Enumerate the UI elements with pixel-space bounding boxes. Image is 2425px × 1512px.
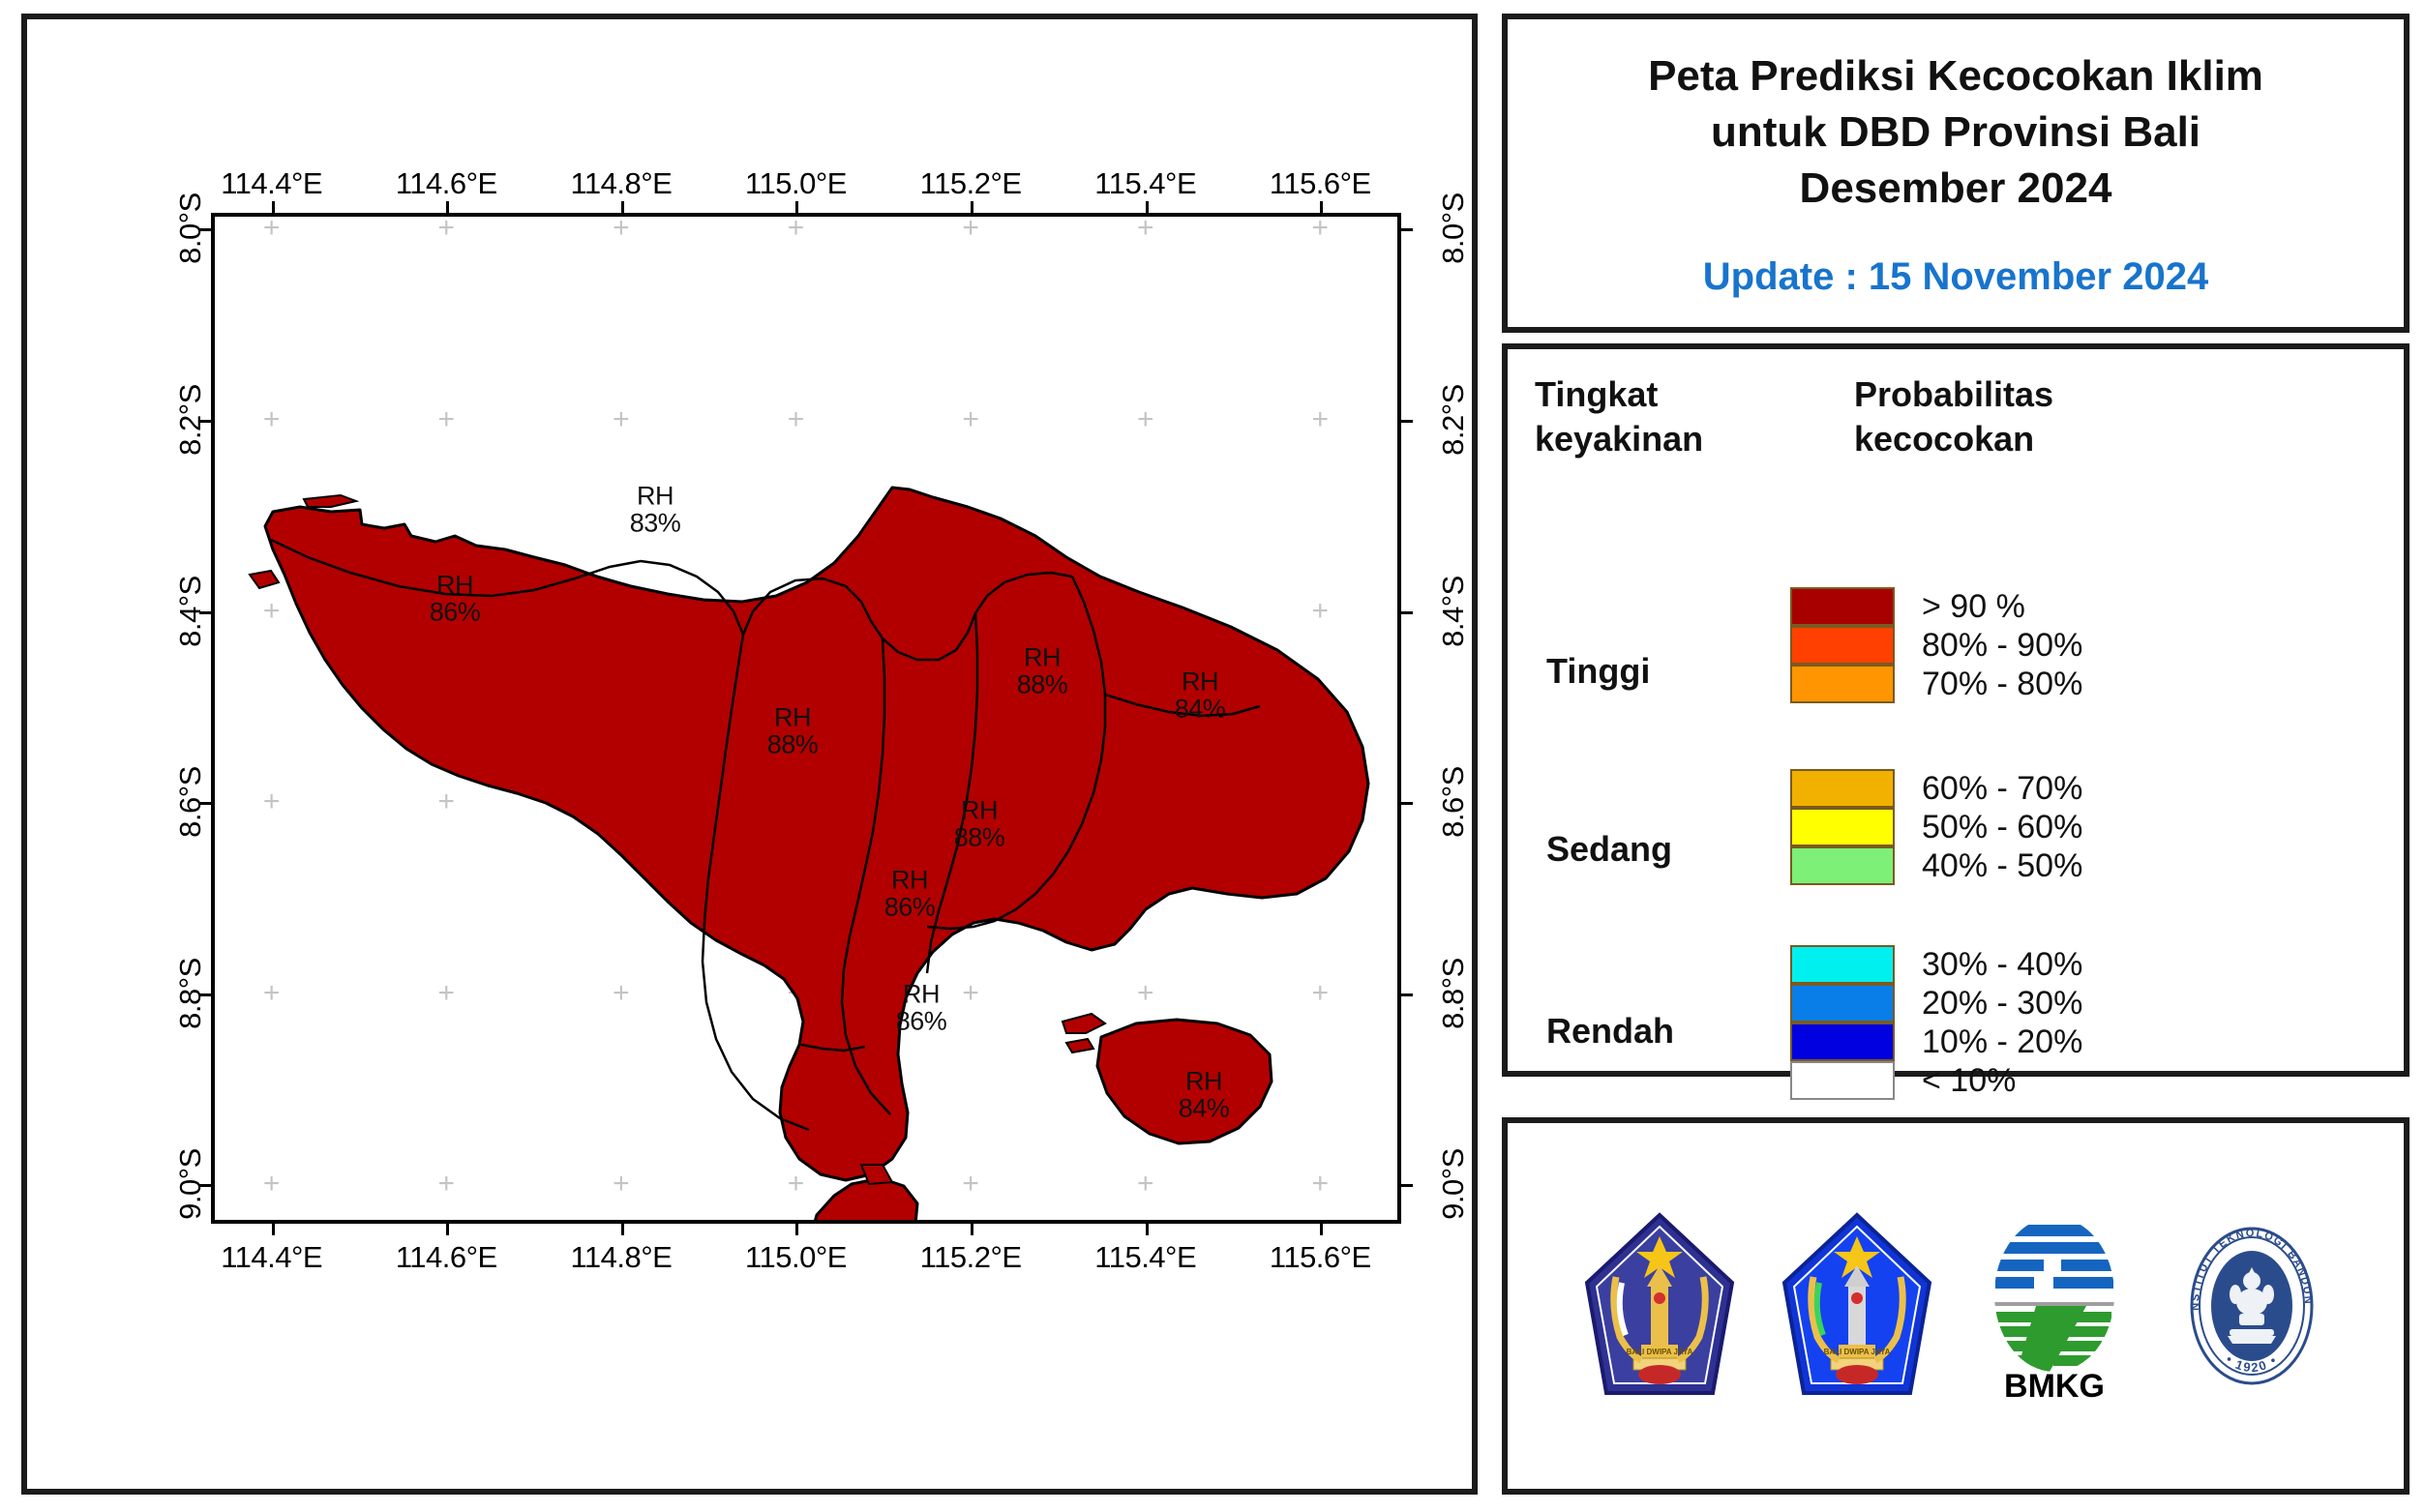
lon-tick-label: 115.2°E [920, 166, 1022, 201]
confidence-level-sedang: Sedang [1546, 829, 1672, 870]
lon-tick-label: 115.6°E [1270, 1240, 1371, 1275]
lat-tick-label: 8.0°S [1436, 193, 1471, 265]
map-poster: 114.4°E114.6°E114.8°E115.0°E115.2°E115.4… [0, 0, 2425, 1512]
lat-tick-label: 8.6°S [1436, 766, 1471, 838]
info-column: Peta Prediksi Kecocokan Iklim untuk DBD … [1502, 14, 2410, 1495]
lon-tick-label: 115.0°E [745, 166, 847, 201]
legend-header-probability-l1: Probabilitas [1854, 372, 2053, 417]
legend-range-label: 30% - 40% [1922, 946, 2082, 984]
legend-row: 60% - 70% [1790, 769, 2082, 808]
lat-tick [1399, 420, 1413, 423]
map-canvas: ++++++++++++++++++++++++++++++++++++++++… [215, 217, 1397, 1220]
lon-tick-label: 114.4°E [221, 1240, 322, 1275]
bali-province-emblem-2-icon: BALI DWIPA JAYA [1775, 1209, 1939, 1403]
west-islet-polygon [304, 495, 356, 507]
legend-row: 70% - 80% [1790, 665, 2082, 703]
nusa-lembongan-polygon [1063, 1014, 1105, 1033]
legend-body: Tinggi Sedang Rendah > 90 %80% - 90%70% … [1508, 461, 2404, 1003]
lat-tick [1399, 993, 1413, 996]
lon-tick-label: 114.4°E [221, 166, 322, 201]
legend-row: 30% - 40% [1790, 945, 2082, 984]
legend-range-label: 40% - 50% [1922, 847, 2082, 885]
legend-color-swatch [1790, 945, 1895, 984]
confidence-level-tinggi: Tinggi [1546, 651, 1650, 692]
lon-tick-label: 114.8°E [570, 166, 672, 201]
legend-row: 50% - 60% [1790, 808, 2082, 846]
lon-tick-label: 114.6°E [396, 1240, 497, 1275]
legend-header-confidence: Tingkat keyakinan [1535, 372, 1854, 461]
svg-text:BALI DWIPA JAYA: BALI DWIPA JAYA [1824, 1348, 1891, 1356]
legend-headers: Tingkat keyakinan Probabilitas kecocokan [1508, 349, 2404, 461]
confidence-level-rendah: Rendah [1546, 1011, 1674, 1052]
lon-tick [272, 1222, 275, 1235]
legend-row: 20% - 30% [1790, 984, 2082, 1023]
legend-color-swatch [1790, 587, 1895, 626]
lat-tick [1399, 611, 1413, 614]
itb-logo-icon: INSTITUT TEKNOLOGI BANDUNG • 1920 • [2170, 1209, 2334, 1403]
legend-row: < 10% [1790, 1061, 2082, 1100]
legend-color-swatch [1790, 769, 1895, 808]
legend-range-label: 80% - 90% [1922, 627, 2082, 665]
lat-tick-label: 9.0°S [1436, 1148, 1471, 1220]
lon-tick [795, 1222, 798, 1235]
lon-tick-label: 114.6°E [396, 166, 497, 201]
update-date: Update : 15 November 2024 [1703, 255, 2208, 299]
legend-range-label: > 90 % [1922, 588, 2025, 626]
title-panel: Peta Prediksi Kecocokan Iklim untuk DBD … [1502, 14, 2410, 333]
lon-tick-label: 114.8°E [570, 1240, 672, 1275]
lon-tick-label: 115.4°E [1094, 1240, 1196, 1275]
legend-header-confidence-l2: keyakinan [1535, 417, 1854, 461]
svg-text:BMKG: BMKG [2004, 1368, 2105, 1403]
legend-row: 10% - 20% [1790, 1023, 2082, 1061]
map-panel: 114.4°E114.6°E114.8°E115.0°E115.2°E115.4… [21, 14, 1478, 1495]
bmkg-logo-icon: BMKG [1972, 1209, 2137, 1403]
legend-range-label: 70% - 80% [1922, 666, 2082, 703]
title-line-2: untuk DBD Provinsi Bali [1711, 104, 2200, 161]
title-line-3: Desember 2024 [1800, 161, 2112, 217]
legend-group-low: 30% - 40%20% - 30%10% - 20%< 10% [1790, 945, 2082, 1100]
lat-tick [1399, 802, 1413, 805]
legend-range-label: 10% - 20% [1922, 1023, 2082, 1061]
legend-color-swatch [1790, 1061, 1895, 1100]
legend-color-swatch [1790, 808, 1895, 846]
svg-text:BALI DWIPA JAYA: BALI DWIPA JAYA [1627, 1348, 1693, 1356]
legend-group-high: > 90 %80% - 90%70% - 80% [1790, 587, 2082, 703]
lon-tick [621, 1222, 624, 1235]
lat-tick-label: 8.4°S [1436, 576, 1471, 647]
bali-province-emblem-1-icon: BALI DWIPA JAYA [1577, 1209, 1742, 1403]
legend-range-label: 50% - 60% [1922, 809, 2082, 846]
lon-tick-label: 115.2°E [920, 1240, 1022, 1275]
legend-panel: Tingkat keyakinan Probabilitas kecocokan… [1502, 343, 2410, 1077]
lon-tick-label: 115.0°E [745, 1240, 847, 1275]
lat-tick-label: 8.8°S [1436, 958, 1471, 1029]
lat-tick-label: 8.2°S [1436, 384, 1471, 456]
legend-color-swatch [1790, 1023, 1895, 1061]
bukit-peninsula-polygon [811, 1178, 917, 1220]
nusa-ceningan-polygon [1066, 1039, 1093, 1052]
legend-color-swatch [1790, 846, 1895, 885]
nusa-penida-polygon [1097, 1020, 1272, 1143]
logo-panel: BALI DWIPA JAYA BA [1502, 1117, 2410, 1495]
title-line-1: Peta Prediksi Kecocokan Iklim [1648, 48, 2263, 104]
lat-tick [1399, 228, 1413, 231]
lon-tick [1320, 1222, 1323, 1235]
legend-group-medium: 60% - 70%50% - 60%40% - 50% [1790, 769, 2082, 885]
map-plot-frame: ++++++++++++++++++++++++++++++++++++++++… [211, 213, 1401, 1224]
legend-header-confidence-l1: Tingkat [1535, 372, 1854, 417]
lon-tick [446, 1222, 449, 1235]
west-bay-islet-polygon [250, 571, 279, 588]
legend-range-label: 60% - 70% [1922, 770, 2082, 808]
legend-color-swatch [1790, 626, 1895, 665]
legend-range-label: 20% - 30% [1922, 985, 2082, 1023]
legend-header-probability: Probabilitas kecocokan [1854, 372, 2053, 461]
lat-tick [1399, 1184, 1413, 1187]
lon-tick [971, 1222, 973, 1235]
legend-range-label: < 10% [1922, 1062, 2016, 1100]
legend-header-probability-l2: kecocokan [1854, 417, 2053, 461]
legend-row: 80% - 90% [1790, 626, 2082, 665]
legend-row: > 90 % [1790, 587, 2082, 626]
lon-tick-label: 115.4°E [1094, 166, 1196, 201]
legend-row: 40% - 50% [1790, 846, 2082, 885]
bali-polygon-layer [215, 217, 1397, 1220]
lon-tick-label: 115.6°E [1270, 166, 1371, 201]
legend-color-swatch [1790, 984, 1895, 1023]
lon-tick [1146, 1222, 1149, 1235]
legend-color-swatch [1790, 665, 1895, 703]
